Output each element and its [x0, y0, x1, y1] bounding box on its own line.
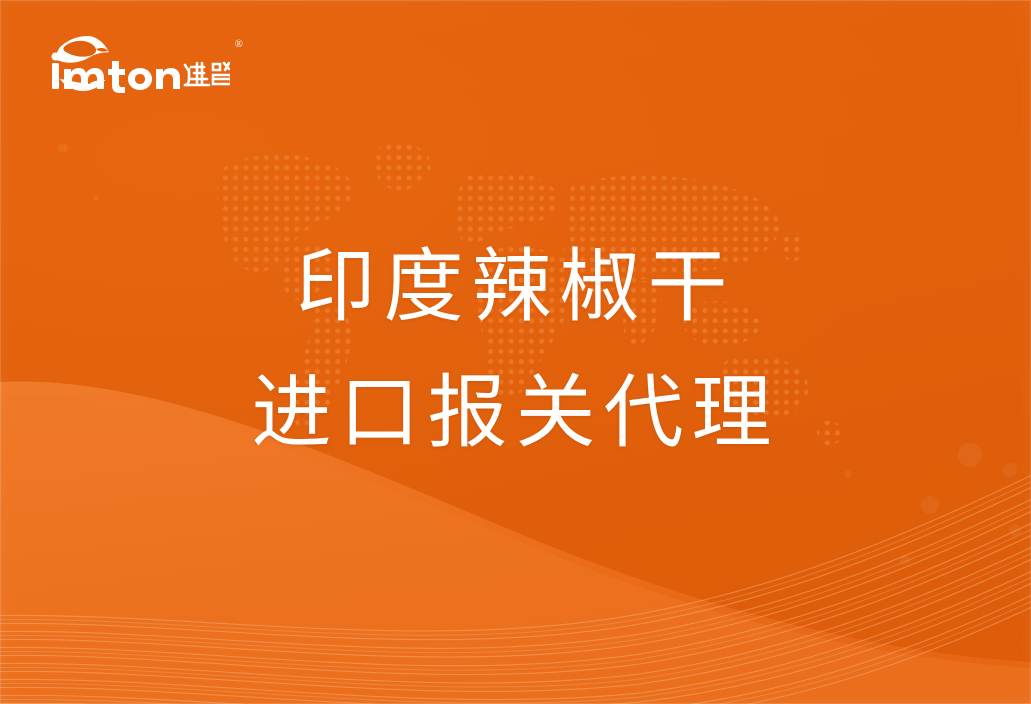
- hairline-sweep-decoration: [0, 404, 1031, 704]
- registered-trademark-mark: ®: [235, 39, 243, 50]
- promo-banner: ® 印度辣椒干 进口报关代理: [0, 0, 1031, 704]
- logo-globe-wordmark-icon: ®: [44, 33, 230, 99]
- brand-logo[interactable]: ®: [44, 33, 230, 99]
